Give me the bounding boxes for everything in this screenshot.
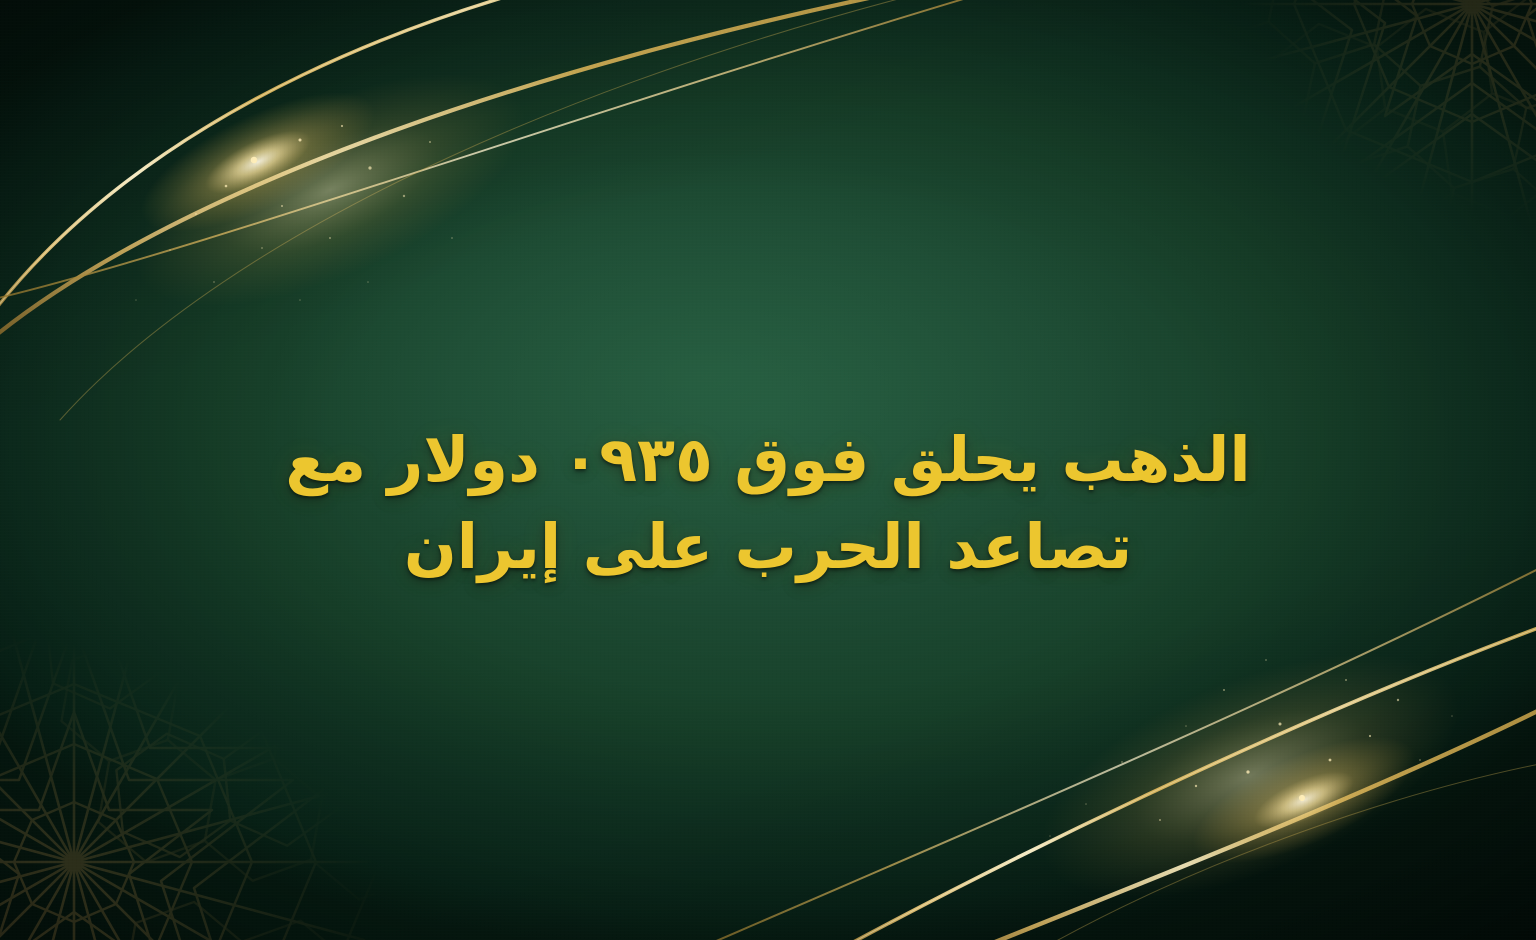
banner-canvas: الذهب يحلق فوق ٥٣٩٠ دولار مع تصاعد الحرب…: [0, 0, 1536, 940]
headline-block: الذهب يحلق فوق ٥٣٩٠ دولار مع تصاعد الحرب…: [0, 418, 1536, 588]
headline-line-1: الذهب يحلق فوق ٥٣٩٠ دولار مع: [285, 418, 1250, 501]
headline-line-2: تصاعد الحرب على إيران: [404, 505, 1132, 588]
